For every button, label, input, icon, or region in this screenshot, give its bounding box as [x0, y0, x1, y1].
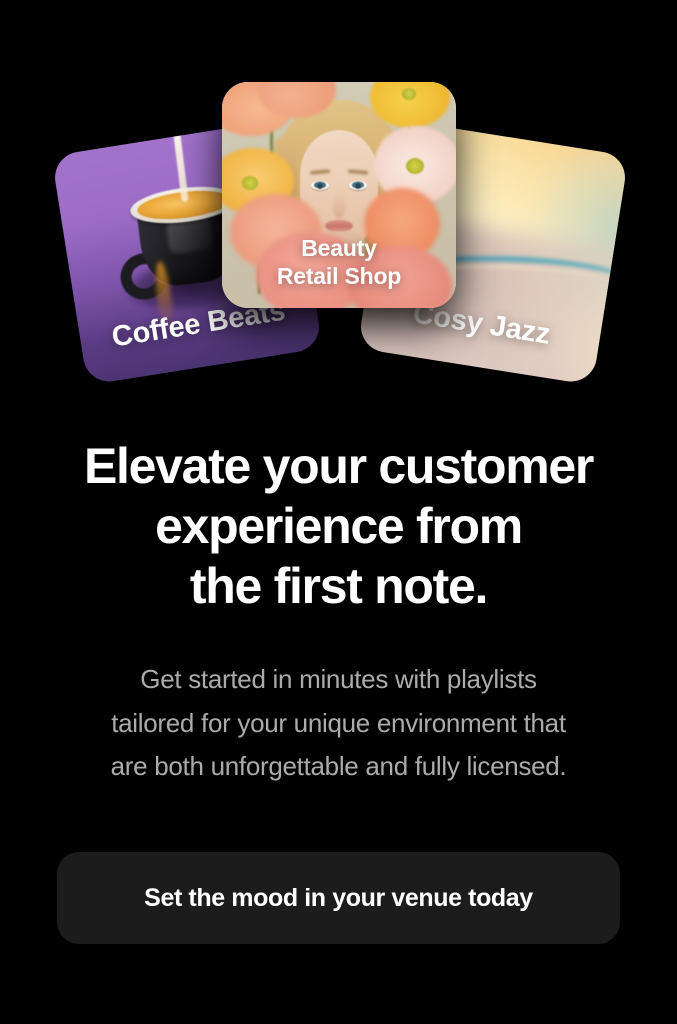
playlist-card-stack: Coffee Beats Cosy Jazz [0, 0, 677, 420]
headline-line-2: experience from [30, 497, 647, 557]
playlist-card-label-line1: Beauty [222, 234, 456, 262]
playlist-card-label-line2: Retail Shop [222, 262, 456, 290]
subcopy-line-3: are both unforgettable and fully license… [111, 751, 567, 781]
eyebrow-left [310, 169, 330, 175]
nose [333, 192, 346, 218]
poppy-core [406, 158, 424, 174]
set-the-mood-cta-button[interactable]: Set the mood in your venue today [57, 852, 620, 944]
playlist-card-beauty-retail-shop[interactable]: Beauty Retail Shop [222, 82, 456, 308]
lips [325, 220, 353, 232]
headline-line-1: Elevate your customer [30, 437, 647, 497]
playlist-card-label: Beauty Retail Shop [222, 234, 456, 290]
poppy-core [242, 176, 258, 190]
subcopy-line-1: Get started in minutes with playlists [140, 664, 536, 694]
pupil-right [355, 183, 361, 189]
page-subcopy: Get started in minutes with playlists ta… [44, 658, 633, 789]
subcopy-line-2: tailored for your unique environment tha… [111, 708, 566, 738]
headline-line-3: the first note. [30, 557, 647, 617]
eyebrow-right [348, 169, 368, 175]
poppy-core [402, 88, 416, 100]
marketing-hero-screen: Coffee Beats Cosy Jazz [0, 0, 677, 1024]
page-title: Elevate your customer experience from th… [30, 437, 647, 616]
pupil-left [317, 183, 323, 189]
